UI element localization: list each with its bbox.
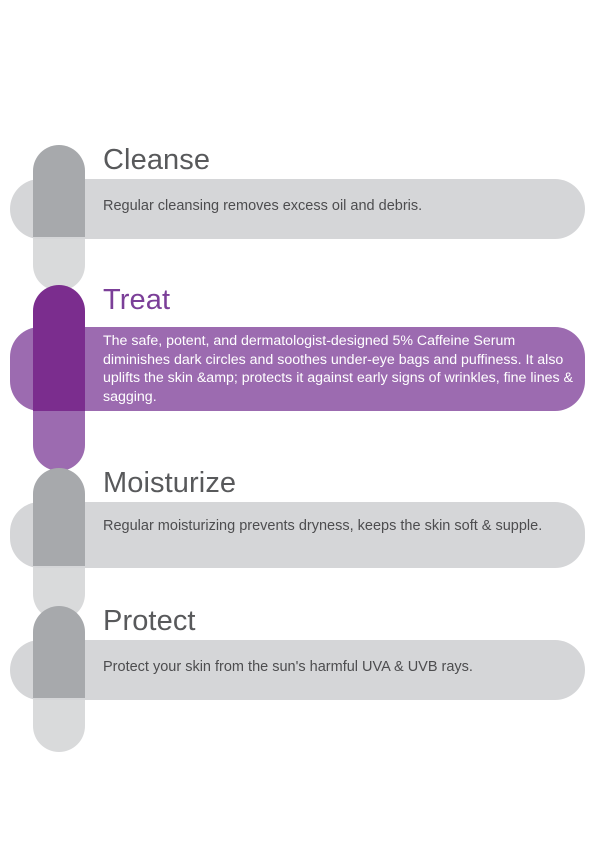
skincare-routine-infographic: Cleanse 1 Regular cleansing removes exce…: [0, 0, 600, 866]
step-3-badge: [33, 468, 85, 566]
step-1-body-text: Regular cleansing removes excess oil and…: [103, 197, 558, 216]
step-4-heading: Protect: [103, 604, 196, 638]
process-step-1[interactable]: Cleanse 1 Regular cleansing removes exce…: [0, 143, 600, 261]
step-2-badge: [33, 285, 85, 411]
step-3-body-text: Regular moisturizing prevents dryness, k…: [103, 517, 558, 536]
step-2-body-text: The safe, potent, and dermatologist-desi…: [103, 332, 573, 406]
process-step-4[interactable]: Protect 4 Protect your skin from the sun…: [0, 604, 600, 722]
step-2-heading: Treat: [103, 283, 170, 317]
step-3-heading: Moisturize: [103, 466, 236, 500]
process-step-2[interactable]: Treat 2 The safe, potent, and dermatolog…: [0, 283, 600, 443]
step-1-badge: [33, 145, 85, 237]
step-1-heading: Cleanse: [103, 143, 210, 177]
process-step-3[interactable]: Moisturize 3 Regular moisturizing preven…: [0, 466, 600, 594]
step-4-body-text: Protect your skin from the sun's harmful…: [103, 658, 558, 677]
step-4-badge: [33, 606, 85, 698]
